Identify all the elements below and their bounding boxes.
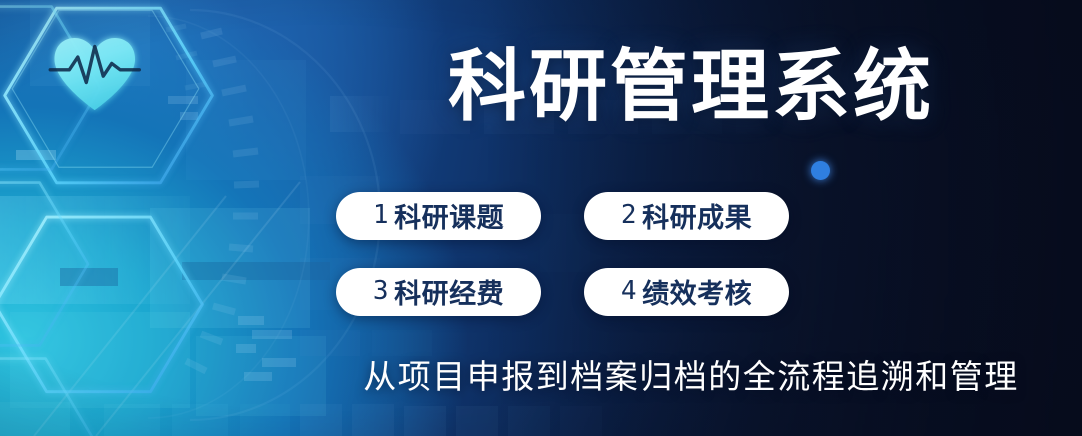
badge-number-1: 1 [373,200,389,230]
badge-number-2: 2 [621,200,637,230]
feature-badge-3[interactable]: 3 科研经费 [336,268,541,316]
feature-badge-grid: 1 科研课题 2 科研成果 3 科研经费 4 绩效考核 [336,192,806,316]
page-title: 科研管理系统 [335,38,1047,134]
feature-badge-4[interactable]: 4 绩效考核 [584,268,789,316]
badge-label-1: 科研课题 [394,196,504,235]
feature-badge-1[interactable]: 1 科研课题 [336,192,541,240]
badge-number-3: 3 [373,276,389,306]
feature-badge-2[interactable]: 2 科研成果 [584,192,789,240]
badge-label-4: 绩效考核 [642,272,752,311]
badge-number-4: 4 [621,276,637,306]
banner-tagline: 从项目申报到档案归档的全流程追溯和管理 [320,355,1062,399]
connector-dot-icon [811,161,830,180]
badge-label-3: 科研经费 [394,272,504,311]
banner: 科研管理系统 1 科研课题 2 科研成果 3 科研经费 4 绩效考核 从项目申报… [0,0,1082,436]
badge-label-2: 科研成果 [642,196,752,235]
banner-content: 科研管理系统 1 科研课题 2 科研成果 3 科研经费 4 绩效考核 从项目申报… [300,0,1082,436]
